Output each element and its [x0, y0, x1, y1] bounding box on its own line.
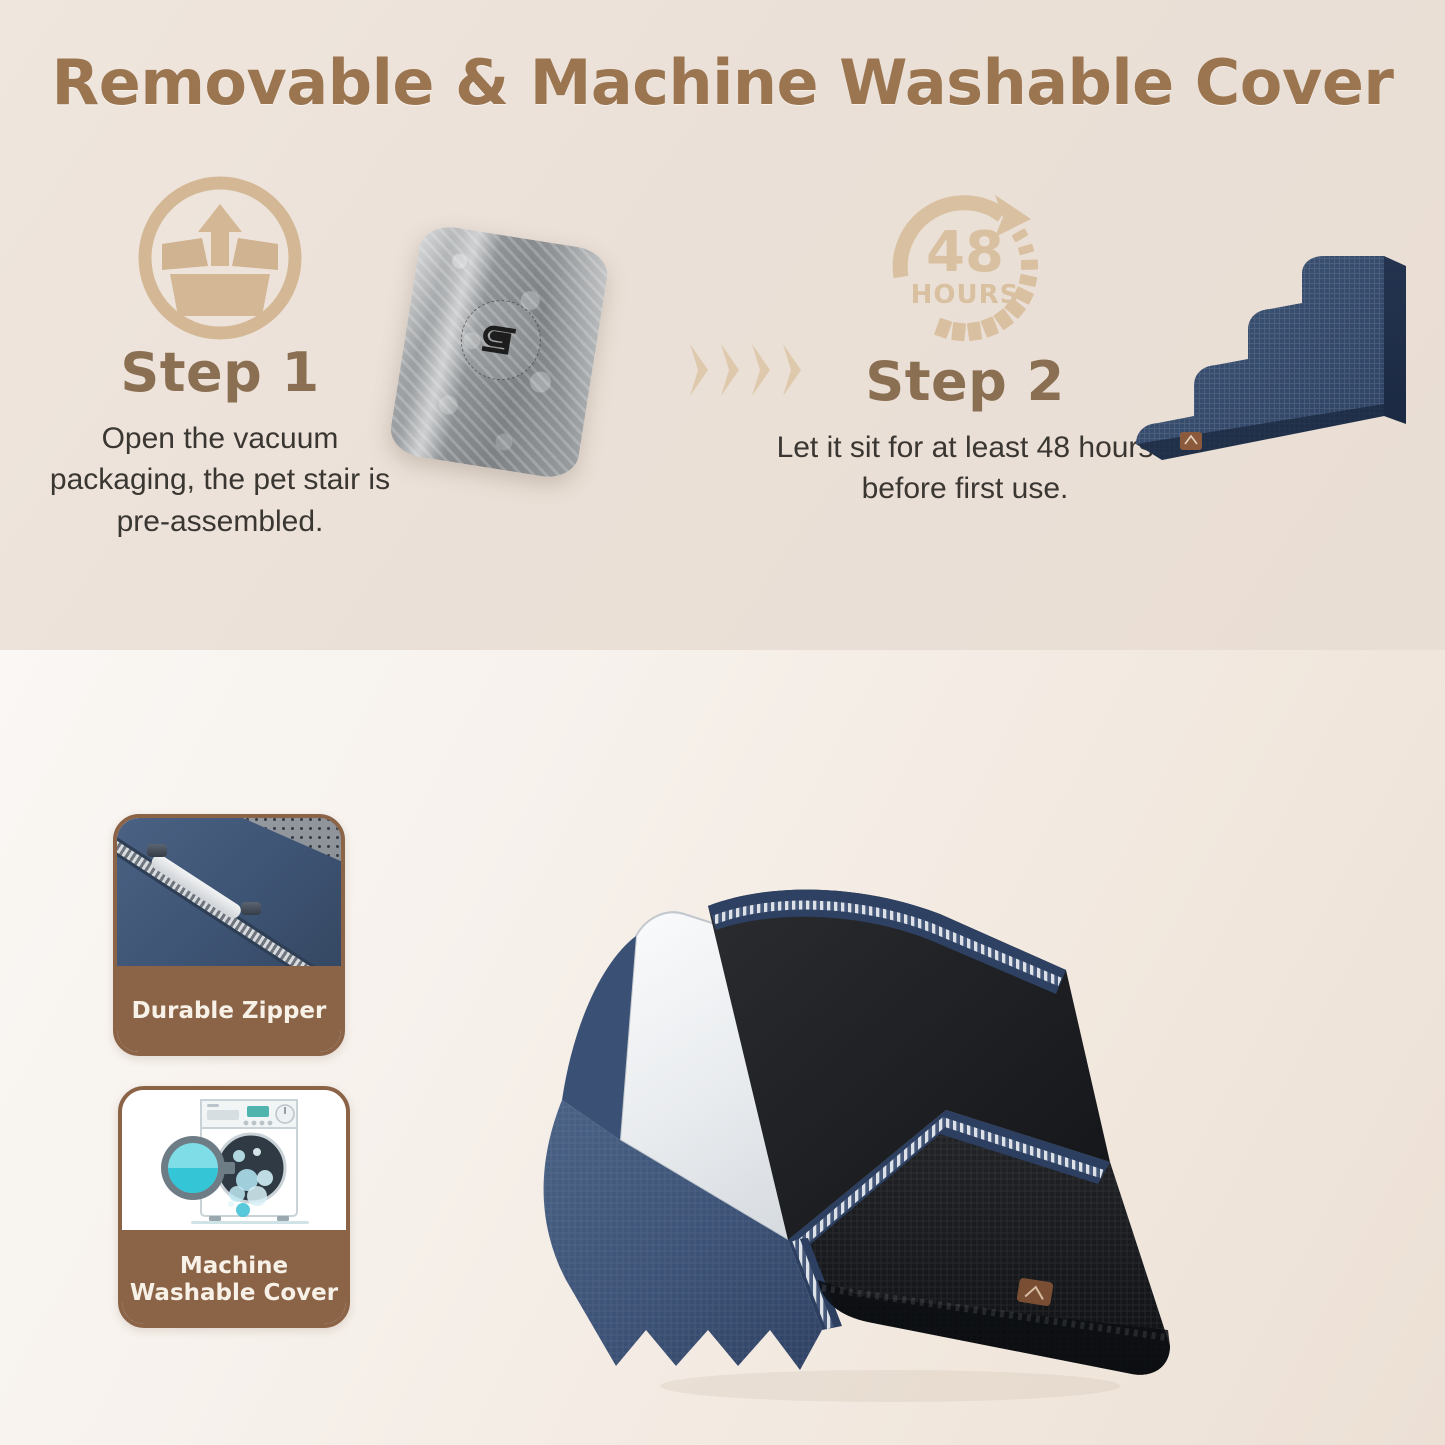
zipper-card-caption: Durable Zipper — [117, 966, 341, 1056]
washer-card-caption: Machine Washable Cover — [122, 1230, 346, 1328]
step-2-description: Let it sit for at least 48 hours before … — [770, 427, 1160, 510]
step-1-block: Step 1 Open the vacuum packaging, the pe… — [20, 170, 420, 542]
washer-caption-line2: Washable Cover — [130, 1280, 338, 1306]
hours-number: 48 — [926, 220, 1004, 285]
feature-card-durable-zipper[interactable]: Durable Zipper — [113, 814, 345, 1056]
zipper-closeup-photo — [117, 818, 341, 966]
feature-card-machine-washable[interactable]: Machine Washable Cover — [118, 1086, 350, 1328]
step-1-description: Open the vacuum packaging, the pet stair… — [20, 418, 420, 542]
hours-unit: HOURS — [911, 280, 1020, 310]
navy-pet-stair-cover-removal-photo — [470, 810, 1270, 1430]
open-box-arrow-icon — [20, 170, 420, 346]
step-2-block: 48 HOURS Step 2 Let it sit for at least … — [770, 185, 1160, 510]
washing-machine-illustration — [122, 1090, 346, 1230]
navy-pet-stair-photo — [1122, 246, 1422, 481]
step-1-title: Step 1 — [20, 346, 420, 400]
step-2-title: Step 2 — [770, 355, 1160, 409]
zipper-slider-icon — [241, 902, 261, 915]
zipper-pull-icon — [147, 844, 167, 857]
48-hours-clock-icon: 48 HOURS — [770, 185, 1160, 355]
section-heading: Removable & Machine Washable Cover — [0, 46, 1445, 119]
washer-caption-line1: Machine — [180, 1253, 288, 1279]
vacuum-packed-roll-photo — [387, 223, 611, 482]
